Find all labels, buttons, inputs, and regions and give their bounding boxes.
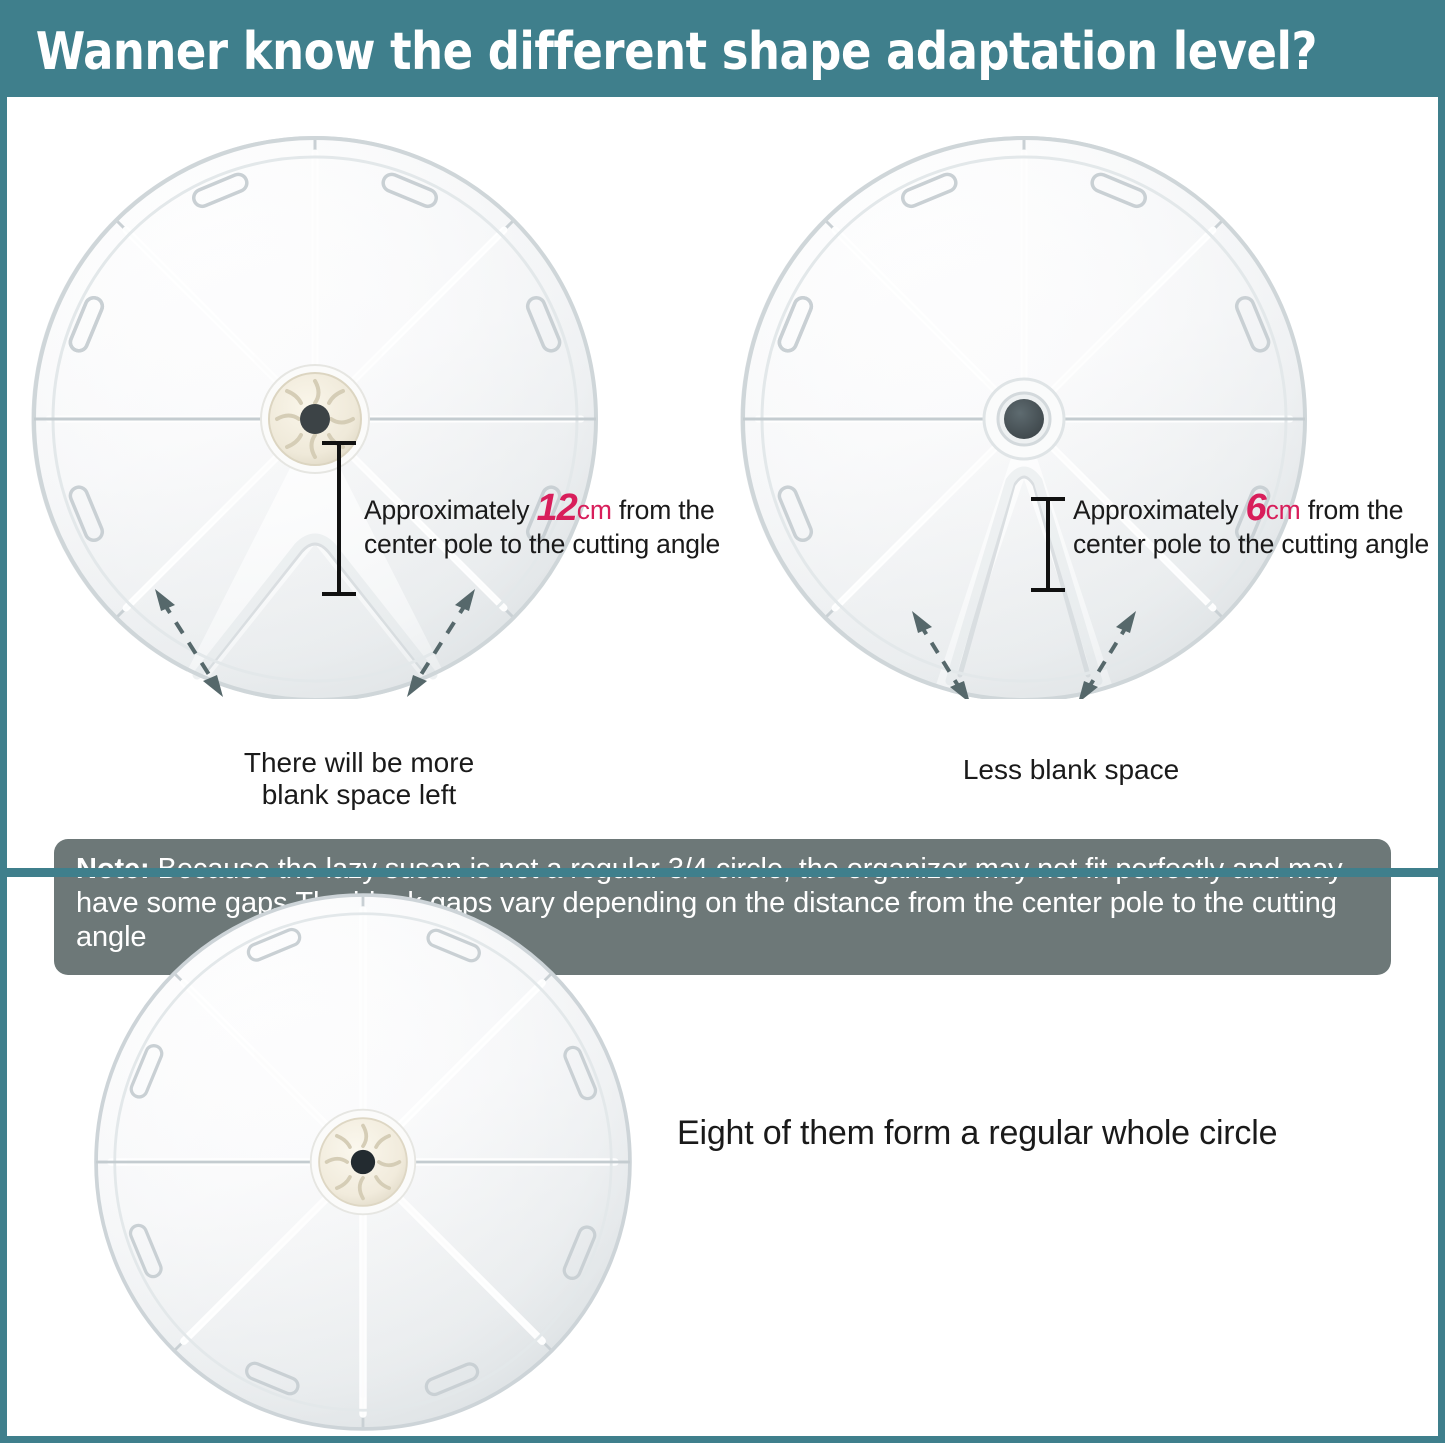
measure-unit-left: cm (577, 495, 612, 525)
gap-caption-right: Less blank space (951, 754, 1191, 786)
measure-line2-right: center pole to the cutting angle (1073, 530, 1429, 560)
gap-caption-right-line1: Less blank space (951, 754, 1191, 786)
measurement-annotation-right: Approximately 6cm from the center pole t… (1073, 487, 1429, 559)
measure-stem (337, 441, 341, 596)
measure-cap-bottom (1031, 588, 1065, 592)
center-hub (311, 1110, 416, 1215)
header-banner: Wanner know the different shape adaptati… (7, 7, 1438, 97)
gap-caption-left-line1: There will be more (239, 747, 479, 779)
measure-line2-left: center pole to the cutting angle (364, 530, 720, 560)
measure-cap-top (322, 441, 356, 445)
gap-caption-left: There will be more blank space left (239, 747, 479, 811)
center-pole-hole (1004, 399, 1044, 439)
section-divider (7, 868, 1438, 877)
whole-circle-caption: Eight of them form a regular whole circl… (677, 1114, 1277, 1153)
right-comparison-panel: Approximately 6cm from the center pole t… (723, 97, 1438, 868)
lazy-susan-full-circle-illustration (83, 882, 643, 1442)
lazy-susan-wide-notch-illustration (15, 119, 635, 699)
measure-prefix-right: Approximately (1073, 495, 1238, 525)
bottom-whole-circle-section: Eight of them form a regular whole circl… (7, 877, 1438, 1443)
full-circle-svg (83, 882, 643, 1442)
measure-cap-bottom (322, 592, 356, 596)
measure-value-right: 6 (1245, 487, 1265, 529)
measure-value-left: 12 (536, 487, 576, 529)
measure-suffix-right: from the (1308, 495, 1404, 525)
measure-cap-top (1031, 497, 1065, 501)
top-comparison-section: Approximately 12cm from the center pole … (7, 97, 1438, 868)
center-pole-hole (300, 404, 330, 434)
wide-notch-svg (15, 119, 635, 699)
measure-unit-right: cm (1266, 495, 1301, 525)
narrow-notch-svg (724, 119, 1344, 699)
measure-suffix-left: from the (619, 495, 715, 525)
center-hub (984, 379, 1064, 459)
measure-prefix-left: Approximately (364, 495, 529, 525)
measurement-line-12cm (322, 441, 356, 596)
measurement-line-6cm (1031, 497, 1065, 592)
lazy-susan-narrow-notch-illustration (724, 119, 1344, 699)
measure-stem (1046, 497, 1050, 592)
measurement-annotation-left: Approximately 12cm from the center pole … (364, 487, 720, 559)
center-pole-hole (351, 1150, 375, 1174)
left-comparison-panel: Approximately 12cm from the center pole … (7, 97, 722, 868)
infographic-page: Wanner know the different shape adaptati… (0, 0, 1445, 1443)
gap-caption-left-line2: blank space left (239, 779, 479, 811)
page-title: Wanner know the different shape adaptati… (7, 22, 1317, 82)
